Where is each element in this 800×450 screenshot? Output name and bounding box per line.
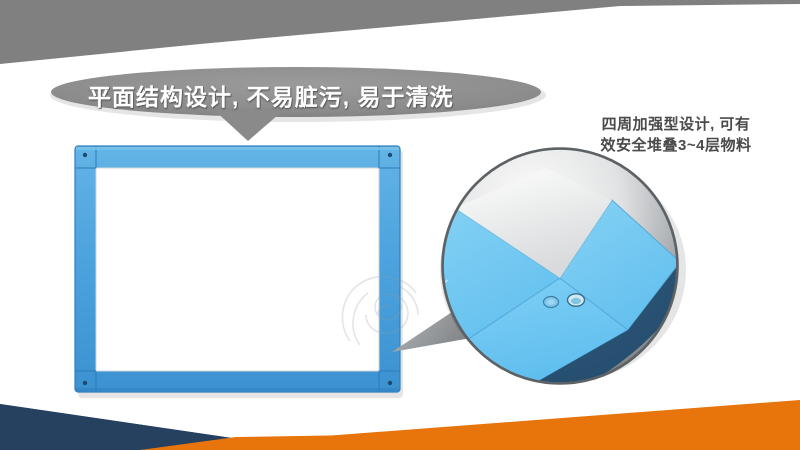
footer-decor bbox=[0, 0, 800, 450]
footer-orange-wedge-top bbox=[140, 400, 800, 450]
slide-canvas: 平面结构设计, 不易脏污, 易于清洗 四周加强型设计, 可有 效安全堆叠3~4层… bbox=[0, 0, 800, 450]
